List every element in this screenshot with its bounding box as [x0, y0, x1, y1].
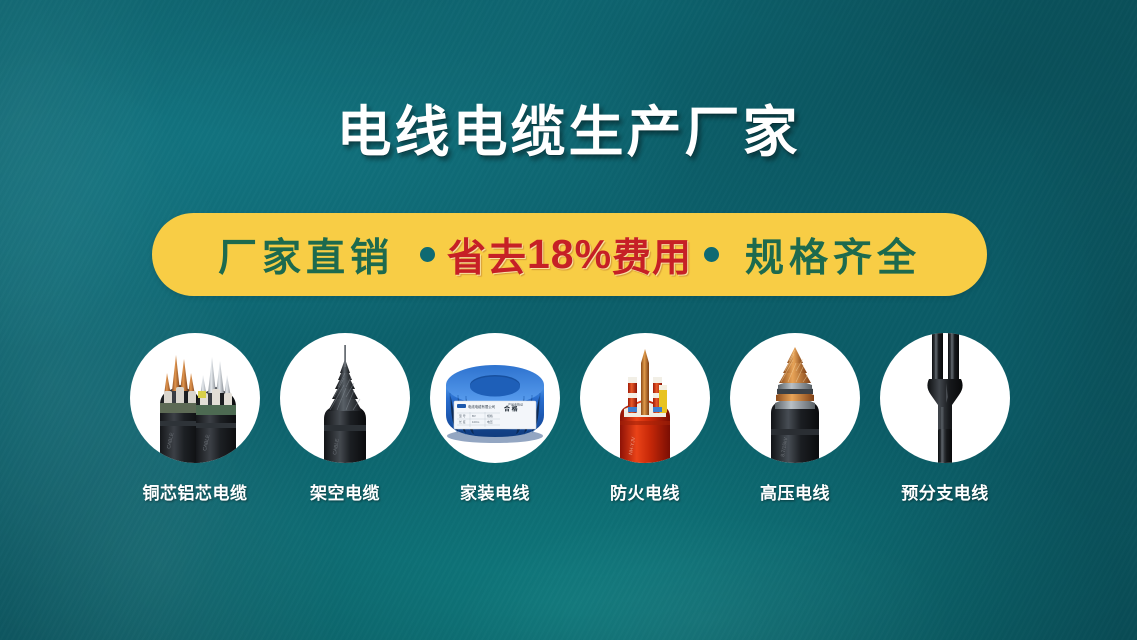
svg-text:长 度: 长 度 [459, 419, 466, 424]
background-vignette [0, 0, 1137, 640]
svg-text:电线电缆有限公司: 电线电缆有限公司 [468, 404, 495, 409]
svg-text:100m: 100m [472, 420, 480, 424]
home-wiring-coil-icon: 电线电缆有限公司 合 格 产品合格证 型 号BV规格 长 度100m电压 [430, 333, 560, 463]
promo-right-text: 规格齐全 [745, 227, 921, 283]
high-voltage-cable-icon: 8.7/15kV [730, 333, 860, 463]
product-label: 铜芯铝芯电缆 [143, 479, 248, 504]
poster-canvas: 电线电缆生产厂家 厂家直销 省去 18% 费用 规格齐全 [0, 0, 1137, 640]
separator-dot-right-icon [704, 247, 719, 262]
product-item[interactable]: CABLE 架空电缆 [280, 333, 410, 504]
product-item[interactable]: NH-YJV 防火电线 [580, 333, 710, 504]
promo-banner: 厂家直销 省去 18% 费用 规格齐全 [152, 213, 987, 296]
product-label: 架空电缆 [310, 479, 380, 504]
overhead-cable-icon: CABLE [280, 333, 410, 463]
product-item[interactable]: CABLE CABLE [130, 333, 260, 504]
page-title: 电线电缆生产厂家 [0, 104, 1137, 162]
copper-aluminum-core-cable-icon: CABLE CABLE [130, 333, 260, 463]
product-gallery: CABLE CABLE [130, 333, 1010, 518]
svg-text:规格: 规格 [487, 413, 493, 418]
product-item[interactable]: 预分支电线 [880, 333, 1010, 504]
product-label: 防火电线 [610, 479, 680, 504]
svg-text:电压: 电压 [487, 419, 493, 424]
svg-text:BV: BV [472, 414, 476, 418]
svg-text:型 号: 型 号 [459, 413, 466, 418]
product-label: 预分支电线 [901, 479, 989, 504]
product-item[interactable]: 8.7/15kV 高压电线 [730, 333, 860, 504]
product-label: 高压电线 [760, 479, 830, 504]
promo-highlight-prefix: 省去 [447, 227, 527, 283]
separator-dot-left-icon [420, 247, 435, 262]
product-label: 家装电线 [460, 479, 530, 504]
promo-banner-row: 厂家直销 省去 18% 费用 规格齐全 [218, 227, 921, 283]
product-item[interactable]: 电线电缆有限公司 合 格 产品合格证 型 号BV规格 长 度100m电压 [430, 333, 560, 504]
promo-highlight-suffix: 费用 [612, 227, 692, 283]
pre-branched-cable-icon [880, 333, 1010, 463]
fire-resistant-cable-icon: NH-YJV [580, 333, 710, 463]
promo-left-text: 厂家直销 [218, 227, 394, 283]
promo-highlight-percent: 18% [527, 231, 612, 278]
svg-text:产品合格证: 产品合格证 [508, 402, 523, 407]
